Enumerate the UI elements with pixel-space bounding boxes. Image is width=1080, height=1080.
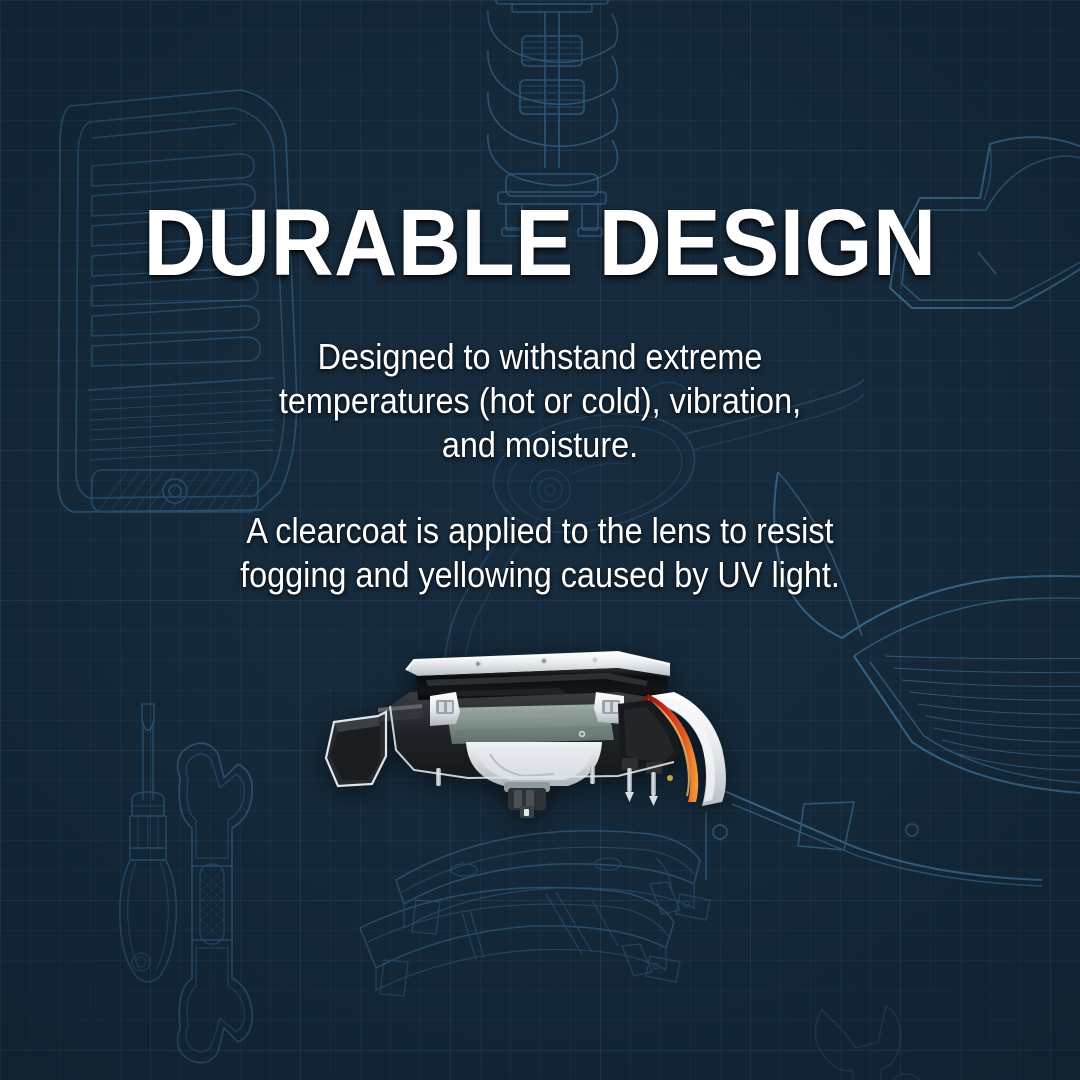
paragraph-1-line-2: temperatures (hot or cold), vibration, <box>54 379 1026 423</box>
paragraph-1-line-3: and moisture. <box>54 423 1026 467</box>
text-content: DURABLE DESIGN Designed to withstand ext… <box>0 0 1080 597</box>
open-end-wrench-art <box>162 738 262 1068</box>
page-title: DURABLE DESIGN <box>43 196 1037 291</box>
poster-canvas: DURABLE DESIGN Designed to withstand ext… <box>0 0 1080 1080</box>
screwdriver-art <box>108 700 188 1000</box>
paragraph-2-line-1: A clearcoat is applied to the lens to re… <box>54 509 1026 553</box>
wrench-faint-art <box>800 1000 930 1080</box>
paragraph-durability: Designed to withstand extreme temperatur… <box>54 335 1026 467</box>
product-image-tail-light <box>318 630 768 820</box>
paragraph-clearcoat: A clearcoat is applied to the lens to re… <box>54 509 1026 597</box>
brake-shoes-art <box>350 808 760 1028</box>
paragraph-1-line-1: Designed to withstand extreme <box>54 335 1026 379</box>
paragraph-2-line-2: fogging and yellowing caused by UV light… <box>54 553 1026 597</box>
